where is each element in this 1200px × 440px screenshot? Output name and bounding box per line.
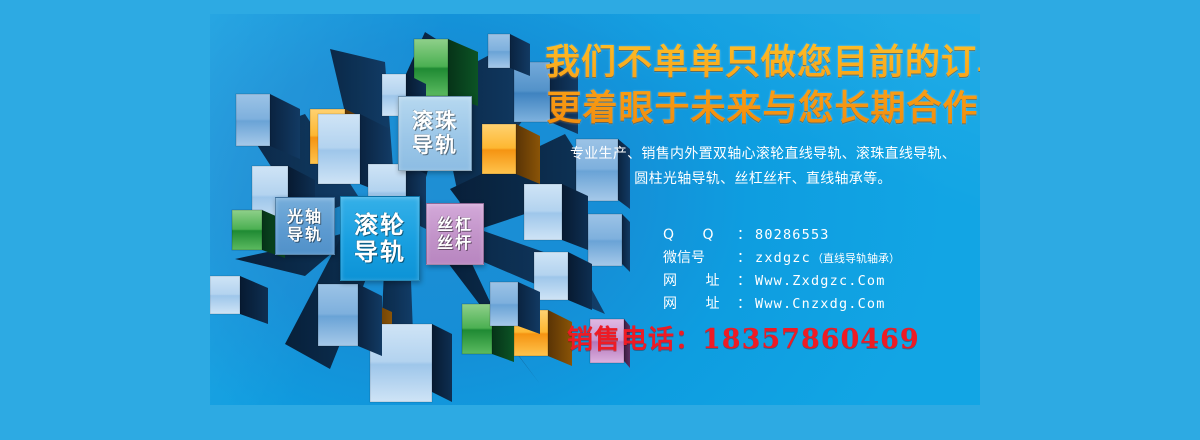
banner-inner-panel: 滚珠 导轨 光轴 导轨 滚轮 导轨 丝杠 丝杆 我们不单单只做您目前的订单 更着… — [210, 14, 980, 405]
promo-banner: 滚珠 导轨 光轴 导轨 滚轮 导轨 丝杠 丝杆 我们不单单只做您目前的订单 更着… — [0, 0, 1200, 440]
banner-content-column: 我们不单单只做您目前的订单 更着眼于未来与您长期合作 专业生产、销售内外置双轴心… — [545, 14, 980, 405]
qq-value[interactable]: 80286553 — [755, 224, 830, 247]
product-label-screw-rod[interactable]: 丝杠 丝杆 — [426, 203, 484, 265]
contact-row-website-2: 网 址 ： Www.Cnzxdg.Com — [663, 293, 980, 316]
product-label-line2: 导轨 — [412, 134, 458, 158]
sales-phone-label: 销售电话： — [567, 325, 702, 355]
qq-colon: ： — [737, 224, 751, 247]
wechat-label: 微信号 — [663, 247, 737, 270]
product-label-line2: 丝杆 — [437, 234, 473, 252]
product-label-line1: 丝杠 — [437, 216, 473, 234]
product-label-line2: 导轨 — [354, 239, 406, 266]
product-label-line1: 滚轮 — [354, 212, 406, 239]
description-text: 专业生产、销售内外置双轴心滚轮直线导轨、滚珠直线导轨、圆柱光轴导轨、丝杠丝杆、直… — [563, 142, 963, 192]
product-label-ball-guide[interactable]: 滚珠 导轨 — [398, 96, 472, 171]
website2-label: 网 址 — [663, 293, 737, 316]
website2-colon: ： — [737, 293, 751, 316]
headline-line-2: 更着眼于未来与您长期合作 — [545, 86, 980, 132]
product-label-line1: 光轴 — [287, 208, 323, 226]
product-label-line2: 导轨 — [287, 226, 323, 244]
wechat-note: （直线导轨轴承） — [812, 247, 900, 270]
sales-phone[interactable]: 销售电话：18357860469 — [567, 319, 967, 356]
headline: 我们不单单只做您目前的订单 更着眼于未来与您长期合作 — [545, 40, 980, 132]
contact-row-qq: Q Q ： 80286553 — [663, 224, 980, 247]
contact-block: Q Q ： 80286553 微信号 ： zxdgzc （直线导轨轴承） 网 址… — [663, 224, 980, 316]
contact-row-website-1: 网 址 ： Www.Zxdgzc.Com — [663, 270, 980, 293]
headline-line-1: 我们不单单只做您目前的订单 — [545, 43, 980, 83]
product-label-line1: 滚珠 — [412, 110, 458, 134]
website1-colon: ： — [737, 270, 751, 293]
product-label-shaft-guide[interactable]: 光轴 导轨 — [275, 197, 335, 255]
product-label-roller-guide[interactable]: 滚轮 导轨 — [340, 196, 420, 281]
wechat-colon: ： — [737, 247, 751, 270]
wechat-value[interactable]: zxdgzc — [755, 247, 811, 270]
contact-row-wechat: 微信号 ： zxdgzc （直线导轨轴承） — [663, 247, 980, 270]
qq-label: Q Q — [663, 224, 737, 247]
sales-phone-number[interactable]: 18357860469 — [702, 324, 920, 355]
website1-value[interactable]: Www.Zxdgzc.Com — [755, 270, 886, 293]
website1-label: 网 址 — [663, 270, 737, 293]
website2-value[interactable]: Www.Cnzxdg.Com — [755, 293, 886, 316]
